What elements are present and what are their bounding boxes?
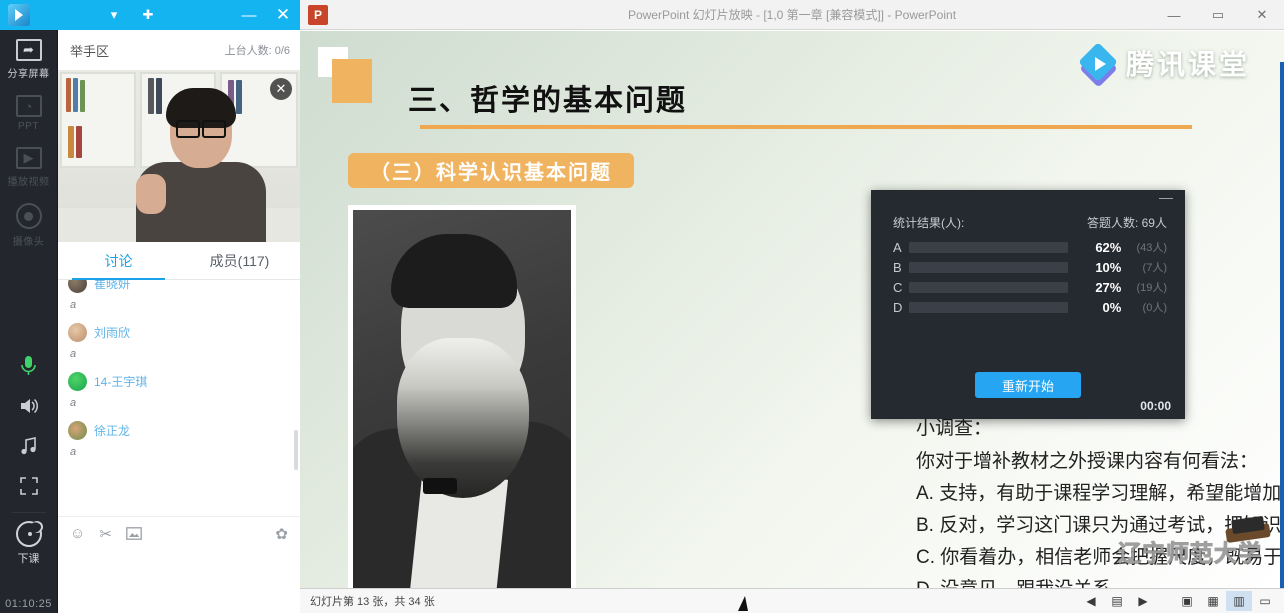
shelf-book bbox=[236, 80, 242, 114]
chat-input[interactable] bbox=[58, 550, 300, 613]
avatar bbox=[68, 280, 87, 293]
teacher-video[interactable]: ✕ bbox=[58, 70, 300, 242]
fullscreen-icon[interactable] bbox=[0, 466, 58, 506]
slide-title: 三、哲学的基本问题 bbox=[408, 77, 687, 119]
play-video-icon: ▶ bbox=[16, 147, 42, 169]
maximize-icon[interactable]: ▭ bbox=[1196, 0, 1240, 30]
watermark-label: 辽宁师范大学 bbox=[1118, 534, 1262, 568]
close-icon[interactable]: ✕ bbox=[1240, 0, 1284, 30]
window-title: PowerPoint 幻灯片放映 - [1,0 第一章 [兼容模式]] - Po… bbox=[300, 6, 1284, 23]
chat-user-name: 徐正龙 bbox=[94, 422, 130, 439]
university-watermark: 辽宁师范大学 bbox=[1116, 518, 1278, 570]
screen-root: ▾ ✚ — ✕ ➦ 分享屏幕 ◔ PPT ▶ 播放视频 摄像头 bbox=[0, 0, 1284, 613]
poll-bar-track bbox=[909, 262, 1068, 273]
rail-item-camera[interactable]: 摄像头 bbox=[0, 194, 58, 254]
rail-label-share-screen: 分享屏幕 bbox=[8, 65, 50, 80]
previous-slide-icon[interactable]: ◀ bbox=[1078, 591, 1104, 611]
ppt-icon: ◔ bbox=[16, 95, 42, 117]
poll-count: (7人) bbox=[1121, 259, 1167, 275]
restart-poll-button[interactable]: 重新开始 bbox=[975, 372, 1081, 398]
chat-message-text: a bbox=[68, 343, 300, 366]
raise-hand-bar: 举手区 上台人数: 0/6 bbox=[58, 30, 300, 70]
powerpoint-window: P PowerPoint 幻灯片放映 - [1,0 第一章 [兼容模式]] - … bbox=[300, 0, 1284, 613]
chat-user-name: 崔晓妍 bbox=[94, 280, 130, 292]
poll-count: (43人) bbox=[1121, 239, 1167, 255]
reading-view-icon[interactable]: ▥ bbox=[1226, 591, 1252, 611]
list-item: 崔晓妍 a bbox=[68, 280, 300, 317]
chat-toolbar: ☺ ✂ ✿ bbox=[58, 516, 300, 550]
slide-canvas[interactable]: 三、哲学的基本问题 （三）科学认识基本问题 本之外，唯心主义和唯物主 有别的意思… bbox=[300, 31, 1284, 588]
shelf-book bbox=[156, 78, 162, 114]
avatar bbox=[68, 372, 87, 391]
list-item: 14-王宇琪 a bbox=[68, 366, 300, 415]
shelf-book bbox=[68, 126, 74, 158]
close-icon[interactable]: ✕ bbox=[266, 0, 300, 30]
chat-message-text: a bbox=[68, 441, 300, 464]
video-close-icon[interactable]: ✕ bbox=[270, 78, 292, 100]
session-timer: 01:10:25 bbox=[5, 598, 52, 613]
normal-view-icon[interactable]: ▣ bbox=[1174, 591, 1200, 611]
end-class-button[interactable]: 下课 bbox=[0, 515, 58, 570]
poll-option-letter: A bbox=[893, 240, 909, 255]
poll-row-c: C 27% (19人) bbox=[893, 277, 1167, 297]
poll-results-label: 统计结果(人): bbox=[893, 214, 964, 231]
minimize-icon[interactable]: — bbox=[232, 0, 266, 30]
tc-main-column: 举手区 上台人数: 0/6 bbox=[58, 30, 300, 613]
pin-icon[interactable]: ✚ bbox=[131, 0, 165, 30]
microphone-icon[interactable] bbox=[0, 346, 58, 386]
avatar bbox=[68, 421, 87, 440]
shelf-book bbox=[80, 80, 85, 112]
raise-hand-title: 举手区 bbox=[70, 41, 109, 60]
poll-percent: 27% bbox=[1078, 280, 1122, 295]
slide-counter: 幻灯片第 13 张，共 34 张 bbox=[310, 593, 435, 609]
poll-respondents-label: 答题人数: 69人 bbox=[1087, 214, 1167, 231]
share-screen-icon: ➦ bbox=[16, 39, 42, 61]
poll-option-letter: C bbox=[893, 280, 909, 295]
notes-icon[interactable]: ▤ bbox=[1104, 591, 1130, 611]
slide-subtitle: （三）科学认识基本问题 bbox=[348, 153, 634, 188]
rail-item-play-video[interactable]: ▶ 播放视频 bbox=[0, 138, 58, 194]
camera-icon bbox=[16, 203, 42, 229]
engels-portrait bbox=[348, 205, 576, 588]
rail-label-ppt: PPT bbox=[18, 121, 39, 132]
chat-message-text: a bbox=[68, 294, 300, 317]
image-icon[interactable] bbox=[126, 527, 142, 540]
poll-option-letter: B bbox=[893, 260, 909, 275]
poll-count: (0人) bbox=[1121, 299, 1167, 315]
end-class-icon bbox=[16, 521, 42, 547]
poll-timer: 00:00 bbox=[1140, 399, 1171, 413]
teacher-hand bbox=[136, 174, 166, 214]
question-option: A. 支持，有助于课程学习理解，希望能增加更多的类似内容 bbox=[916, 478, 1284, 510]
poll-row-d: D 0% (0人) bbox=[893, 297, 1167, 317]
list-item: 徐正龙 a bbox=[68, 415, 300, 464]
poll-results-panel[interactable]: 统计结果(人): 答题人数: 69人 A 62% (43人) B 10% (7人… bbox=[871, 190, 1185, 419]
rail-label-camera: 摄像头 bbox=[13, 233, 45, 248]
emoji-icon[interactable]: ☺ bbox=[70, 525, 85, 542]
tencent-classroom-brand: 腾讯课堂 bbox=[1081, 43, 1250, 83]
chat-message-text: a bbox=[68, 392, 300, 415]
brand-label: 腾讯课堂 bbox=[1126, 43, 1250, 83]
speaker-icon[interactable] bbox=[0, 386, 58, 426]
minimize-icon[interactable]: — bbox=[1152, 0, 1196, 30]
tencent-classroom-window: ▾ ✚ — ✕ ➦ 分享屏幕 ◔ PPT ▶ 播放视频 摄像头 bbox=[0, 0, 300, 613]
poll-bar-track bbox=[909, 242, 1068, 253]
slideshow-icon[interactable]: ▭ bbox=[1252, 591, 1278, 611]
poll-minimize-icon[interactable] bbox=[1159, 198, 1173, 199]
chevron-down-icon[interactable]: ▾ bbox=[97, 0, 131, 30]
chat-message-list[interactable]: 崔晓妍 a 刘雨欣 a 14-王宇琪 a bbox=[58, 280, 300, 493]
gear-icon[interactable]: ✿ bbox=[275, 525, 288, 543]
poll-row-b: B 10% (7人) bbox=[893, 257, 1167, 277]
decor-square-orange bbox=[332, 59, 372, 103]
chat-user-name: 14-王宇琪 bbox=[94, 373, 147, 390]
rail-item-share-screen[interactable]: ➦ 分享屏幕 bbox=[0, 30, 58, 86]
poll-percent: 62% bbox=[1078, 240, 1122, 255]
tencent-classroom-logo-icon bbox=[8, 4, 30, 26]
list-item: 刘雨欣 a bbox=[68, 317, 300, 366]
poll-percent: 0% bbox=[1078, 300, 1122, 315]
powerpoint-titlebar: P PowerPoint 幻灯片放映 - [1,0 第一章 [兼容模式]] - … bbox=[300, 0, 1284, 30]
title-underline bbox=[420, 125, 1192, 129]
powerpoint-status-bar: 幻灯片第 13 张，共 34 张 ◀ ▤ ▶ ▣ ▦ ▥ ▭ bbox=[300, 588, 1284, 613]
chat-scrollbar[interactable] bbox=[294, 430, 298, 470]
question-option: D. 没意见，跟我没关系 bbox=[916, 574, 1284, 588]
tc-titlebar: ▾ ✚ — ✕ bbox=[0, 0, 300, 30]
next-slide-icon[interactable]: ▶ bbox=[1130, 591, 1156, 611]
shelf-book bbox=[148, 78, 154, 114]
slide-right-edge bbox=[1280, 62, 1284, 588]
tencent-play-diamond-icon bbox=[1081, 45, 1117, 81]
poll-bar-track bbox=[909, 282, 1068, 293]
tab-members[interactable]: 成员(117) bbox=[179, 242, 300, 279]
teacher-glasses bbox=[176, 120, 226, 135]
shelf-book bbox=[76, 126, 82, 158]
rail-item-ppt[interactable]: ◔ PPT bbox=[0, 86, 58, 138]
powerpoint-app-icon: P bbox=[308, 5, 328, 25]
poll-percent: 10% bbox=[1078, 260, 1122, 275]
shelf-book bbox=[73, 78, 78, 112]
mouse-cursor bbox=[738, 596, 748, 611]
question-text: 你对于增补教材之外授课内容有何看法： bbox=[916, 446, 1284, 478]
chat-user-name: 刘雨欣 bbox=[94, 324, 130, 341]
shelf-book bbox=[66, 78, 71, 112]
slide-sorter-icon[interactable]: ▦ bbox=[1200, 591, 1226, 611]
tab-discussion[interactable]: 讨论 bbox=[58, 242, 179, 279]
music-icon[interactable] bbox=[0, 426, 58, 466]
rail-label-play-video: 播放视频 bbox=[8, 173, 50, 188]
end-class-label: 下课 bbox=[18, 550, 40, 566]
poll-bar-chart: A 62% (43人) B 10% (7人) C 27% bbox=[871, 237, 1185, 317]
poll-option-letter: D bbox=[893, 300, 909, 315]
panel-tabs: 讨论 成员(117) bbox=[58, 242, 300, 280]
tool-rail: ➦ 分享屏幕 ◔ PPT ▶ 播放视频 摄像头 bbox=[0, 30, 58, 613]
poll-count: (19人) bbox=[1121, 279, 1167, 295]
poll-header: 统计结果(人): 答题人数: 69人 bbox=[871, 190, 1185, 237]
poll-bar-track bbox=[909, 302, 1068, 313]
raise-hand-count: 上台人数: 0/6 bbox=[225, 42, 290, 58]
avatar bbox=[68, 323, 87, 342]
screenshot-scissors-icon[interactable]: ✂ bbox=[99, 525, 112, 543]
poll-row-a: A 62% (43人) bbox=[893, 237, 1167, 257]
